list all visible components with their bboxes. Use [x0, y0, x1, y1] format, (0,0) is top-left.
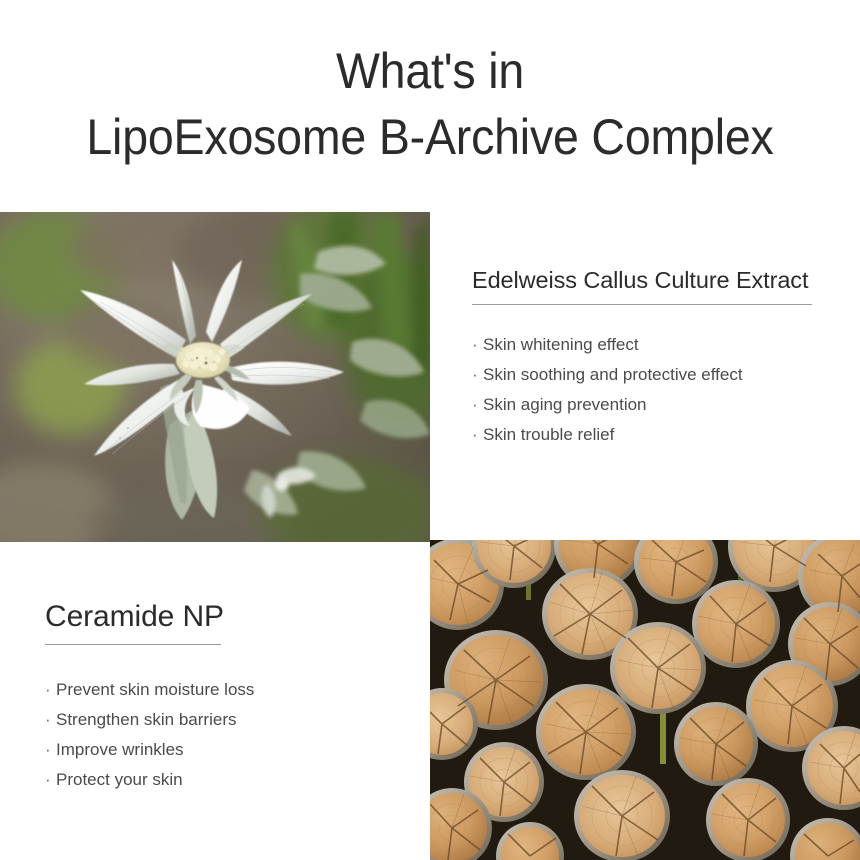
list-item: · Skin whitening effect — [472, 330, 816, 360]
bullet-dot-icon: · — [472, 360, 483, 390]
section-ceramide-np: Ceramide NP · Prevent skin moisture loss… — [45, 598, 389, 795]
bullet-dot-icon: · — [472, 330, 483, 360]
infographic-page: What's in LipoExosome B-Archive Complex — [0, 0, 860, 860]
page-title-line-2: LipoExosome B-Archive Complex — [30, 104, 830, 170]
benefit-list-ceramide: · Prevent skin moisture loss · Strengthe… — [45, 675, 389, 795]
bullet-dot-icon: · — [45, 705, 56, 735]
list-item: · Skin aging prevention — [472, 390, 816, 420]
list-item-label: Strengthen skin barriers — [56, 705, 236, 735]
page-title-line-1: What's in — [30, 38, 830, 104]
list-item-label: Skin whitening effect — [483, 330, 639, 360]
list-item: · Improve wrinkles — [45, 735, 389, 765]
bullet-dot-icon: · — [472, 390, 483, 420]
page-title: What's in LipoExosome B-Archive Complex — [0, 38, 860, 170]
section-heading: Ceramide NP — [45, 598, 389, 636]
list-item-label: Skin soothing and protective effect — [483, 360, 743, 390]
bullet-dot-icon: · — [45, 675, 56, 705]
list-item-label: Prevent skin moisture loss — [56, 675, 254, 705]
stacked-logs-illustration — [430, 540, 860, 860]
list-item-label: Protect your skin — [56, 765, 183, 795]
section-edelweiss-callus-culture-extract: Edelweiss Callus Culture Extract · Skin … — [472, 265, 816, 450]
bullet-dot-icon: · — [472, 420, 483, 450]
list-item-label: Improve wrinkles — [56, 735, 184, 765]
section-divider — [45, 644, 221, 645]
edelweiss-flower-illustration — [0, 212, 430, 542]
list-item: · Skin trouble relief — [472, 420, 816, 450]
section-divider — [472, 304, 812, 305]
list-item-label: Skin aging prevention — [483, 390, 647, 420]
list-item: · Prevent skin moisture loss — [45, 675, 389, 705]
bullet-dot-icon: · — [45, 765, 56, 795]
edelweiss-flower-photo — [0, 212, 430, 542]
benefit-list-edelweiss: · Skin whitening effect · Skin soothing … — [472, 330, 816, 450]
list-item: · Strengthen skin barriers — [45, 705, 389, 735]
bullet-dot-icon: · — [45, 735, 56, 765]
list-item: · Skin soothing and protective effect — [472, 360, 816, 390]
section-heading: Edelweiss Callus Culture Extract — [472, 265, 816, 295]
stacked-logs-photo — [430, 540, 860, 860]
list-item-label: Skin trouble relief — [483, 420, 614, 450]
list-item: · Protect your skin — [45, 765, 389, 795]
